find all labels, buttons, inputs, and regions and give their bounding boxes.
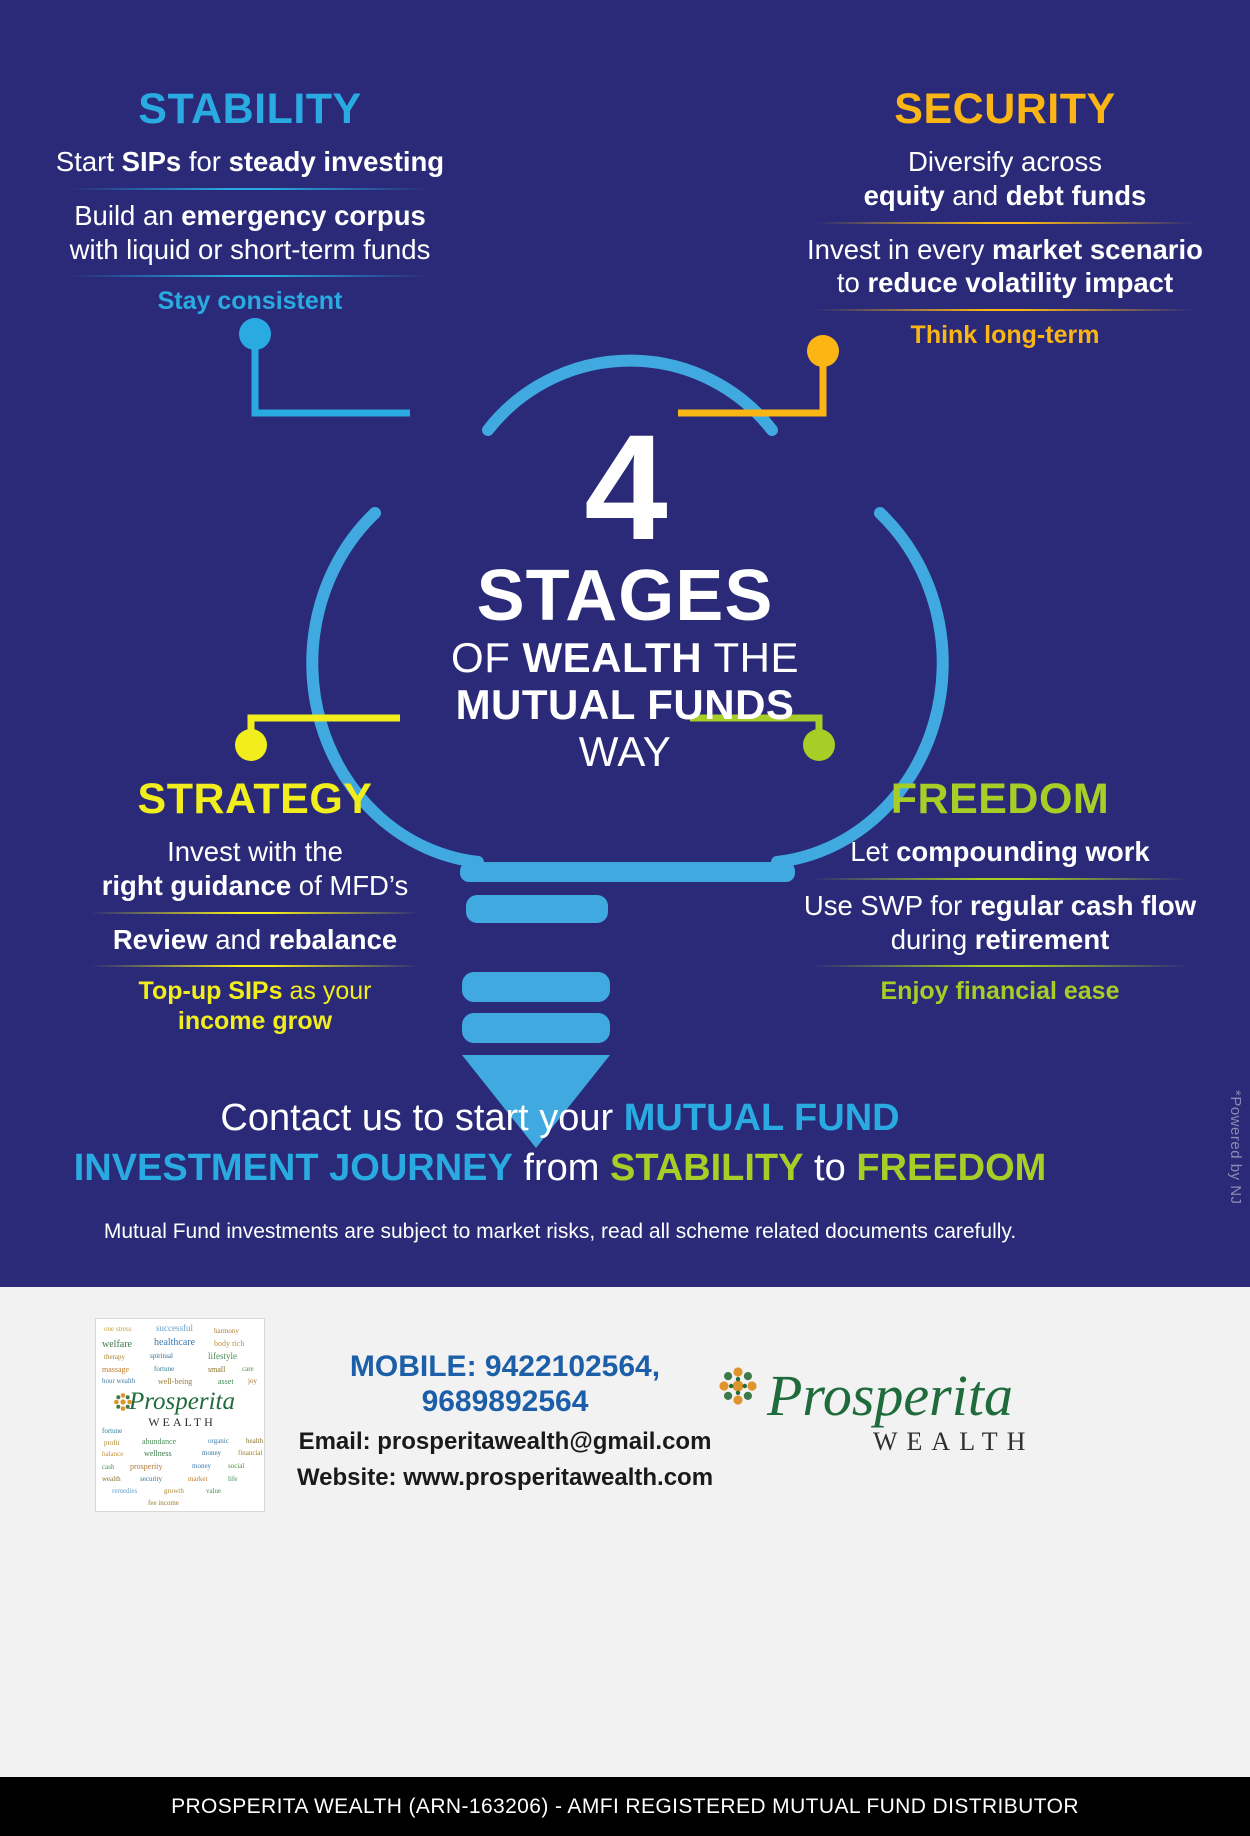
- wordcloud-brand: Prosperita WEALTH: [108, 1389, 256, 1431]
- connector-line-stability: [255, 342, 410, 413]
- divider-stability-1: [70, 188, 430, 190]
- way-line: WAY: [325, 728, 925, 775]
- bulb-base-band-0: [460, 862, 795, 882]
- cta-part-1: Contact us to start your: [220, 1097, 623, 1139]
- of-wealth-post: THE: [702, 634, 799, 681]
- quadrant-title-strategy: STRATEGY: [5, 778, 505, 821]
- contact-block: MOBILE: 9422102564, 9689892564 Email: pr…: [290, 1350, 720, 1499]
- of-wealth-line: OF WEALTH THE: [325, 634, 925, 681]
- freedom-line-2: Use SWP for regular cash flow: [765, 889, 1235, 923]
- security-line-1: Diversify across: [770, 145, 1240, 179]
- flower-logo-icon: [715, 1363, 761, 1409]
- infographic-poster: 4 STAGES OF WEALTH THE MUTUAL FUNDS WAY …: [0, 0, 1250, 1836]
- contact-website[interactable]: Website: www.prosperitawealth.com: [290, 1463, 720, 1493]
- registration-bar: PROSPERITA WEALTH (ARN-163206) - AMFI RE…: [0, 1777, 1250, 1836]
- of-wealth-pre: OF: [451, 634, 523, 681]
- stage-count: 4: [325, 418, 925, 556]
- freedom-block-2: Use SWP for regular cash flow during ret…: [765, 889, 1235, 957]
- freedom-line-1: Let compounding work: [765, 835, 1235, 869]
- cta-part-2: from: [513, 1147, 610, 1189]
- cta-highlight-stability: STABILITY: [610, 1147, 804, 1189]
- strategy-line-1: Invest with the: [5, 835, 505, 869]
- connector-line-security: [678, 359, 823, 413]
- wordcloud-brand-sub: WEALTH: [108, 1414, 256, 1431]
- freedom-tag: Enjoy financial ease: [765, 976, 1235, 1006]
- security-block-1: Diversify across equity and debt funds: [770, 145, 1240, 213]
- cta-highlight-freedom: FREEDOM: [856, 1147, 1046, 1189]
- cta-highlight-mutual-fund: MUTUAL FUND: [624, 1097, 900, 1139]
- strategy-tag-line-2: income grow: [5, 1006, 505, 1036]
- mutual-funds-line: MUTUAL FUNDS: [325, 681, 925, 728]
- divider-security-2: [815, 309, 1195, 311]
- security-line-4: to reduce volatility impact: [770, 266, 1240, 300]
- stability-line-3: with liquid or short-term funds: [0, 233, 500, 267]
- divider-security-1: [815, 222, 1195, 224]
- of-wealth-bold: WEALTH: [523, 634, 703, 681]
- contact-mobile[interactable]: MOBILE: 9422102564, 9689892564: [290, 1350, 720, 1419]
- company-logo-sub: WEALTH: [873, 1429, 1034, 1455]
- quadrant-stability: STABILITY Start SIPs for steady investin…: [0, 88, 500, 316]
- stability-block-2: Build an emergency corpus with liquid or…: [0, 199, 500, 267]
- stability-line-2: Build an emergency corpus: [0, 199, 500, 233]
- company-logo: Prosperita WEALTH: [715, 1345, 1015, 1465]
- divider-stability-2: [70, 275, 430, 277]
- risk-disclaimer: Mutual Fund investments are subject to m…: [40, 1218, 1080, 1245]
- call-to-action: Contact us to start your MUTUAL FUND INV…: [60, 1093, 1060, 1193]
- stability-tag: Stay consistent: [0, 286, 500, 316]
- cta-highlight-journey: INVESTMENT JOURNEY: [74, 1147, 513, 1189]
- registration-text: PROSPERITA WEALTH (ARN-163206) - AMFI RE…: [171, 1795, 1079, 1819]
- powered-by-label: *Powered by NJ: [1227, 1090, 1244, 1205]
- quadrant-strategy: STRATEGY Invest with the right guidance …: [5, 778, 505, 1036]
- connector-dot-strategy: [235, 729, 267, 761]
- connector-dot-stability: [239, 318, 271, 350]
- divider-freedom-2: [810, 965, 1190, 967]
- bulb-center-text: 4 STAGES OF WEALTH THE MUTUAL FUNDS WAY: [325, 418, 925, 775]
- security-line-3: Invest in every market scenario: [770, 233, 1240, 267]
- security-block-2: Invest in every market scenario to reduc…: [770, 233, 1240, 301]
- quadrant-security: SECURITY Diversify across equity and deb…: [770, 88, 1240, 350]
- company-logo-name: Prosperita: [767, 1367, 1013, 1425]
- strategy-tag-line-1: Top-up SIPs as your: [5, 976, 505, 1006]
- wordcloud-logo-image: one stress successful harmony welfare he…: [95, 1318, 265, 1512]
- security-line-2: equity and debt funds: [770, 179, 1240, 213]
- divider-freedom-1: [810, 878, 1190, 880]
- stability-block-1: Start SIPs for steady investing: [0, 145, 500, 179]
- strategy-block-1: Invest with the right guidance of MFD’s: [5, 835, 505, 903]
- contact-email[interactable]: Email: prosperitawealth@gmail.com: [290, 1427, 720, 1457]
- quadrant-freedom: FREEDOM Let compounding work Use SWP for…: [765, 778, 1235, 1006]
- freedom-line-3: during retirement: [765, 923, 1235, 957]
- cta-part-3: to: [804, 1147, 857, 1189]
- quadrant-title-security: SECURITY: [770, 88, 1240, 131]
- quadrant-title-stability: STABILITY: [0, 88, 500, 131]
- stability-line-1: Start SIPs for steady investing: [0, 145, 500, 179]
- wordcloud-brand-name: Prosperita: [108, 1389, 256, 1414]
- strategy-line-2: right guidance of MFD’s: [5, 869, 505, 903]
- divider-strategy-1: [90, 912, 420, 914]
- quadrant-title-freedom: FREEDOM: [765, 778, 1235, 821]
- security-tag: Think long-term: [770, 320, 1240, 350]
- strategy-line-3: Review and rebalance: [5, 923, 505, 957]
- strategy-block-2: Review and rebalance: [5, 923, 505, 957]
- stages-word: STAGES: [325, 560, 925, 632]
- divider-strategy-2: [90, 965, 420, 967]
- freedom-block-1: Let compounding work: [765, 835, 1235, 869]
